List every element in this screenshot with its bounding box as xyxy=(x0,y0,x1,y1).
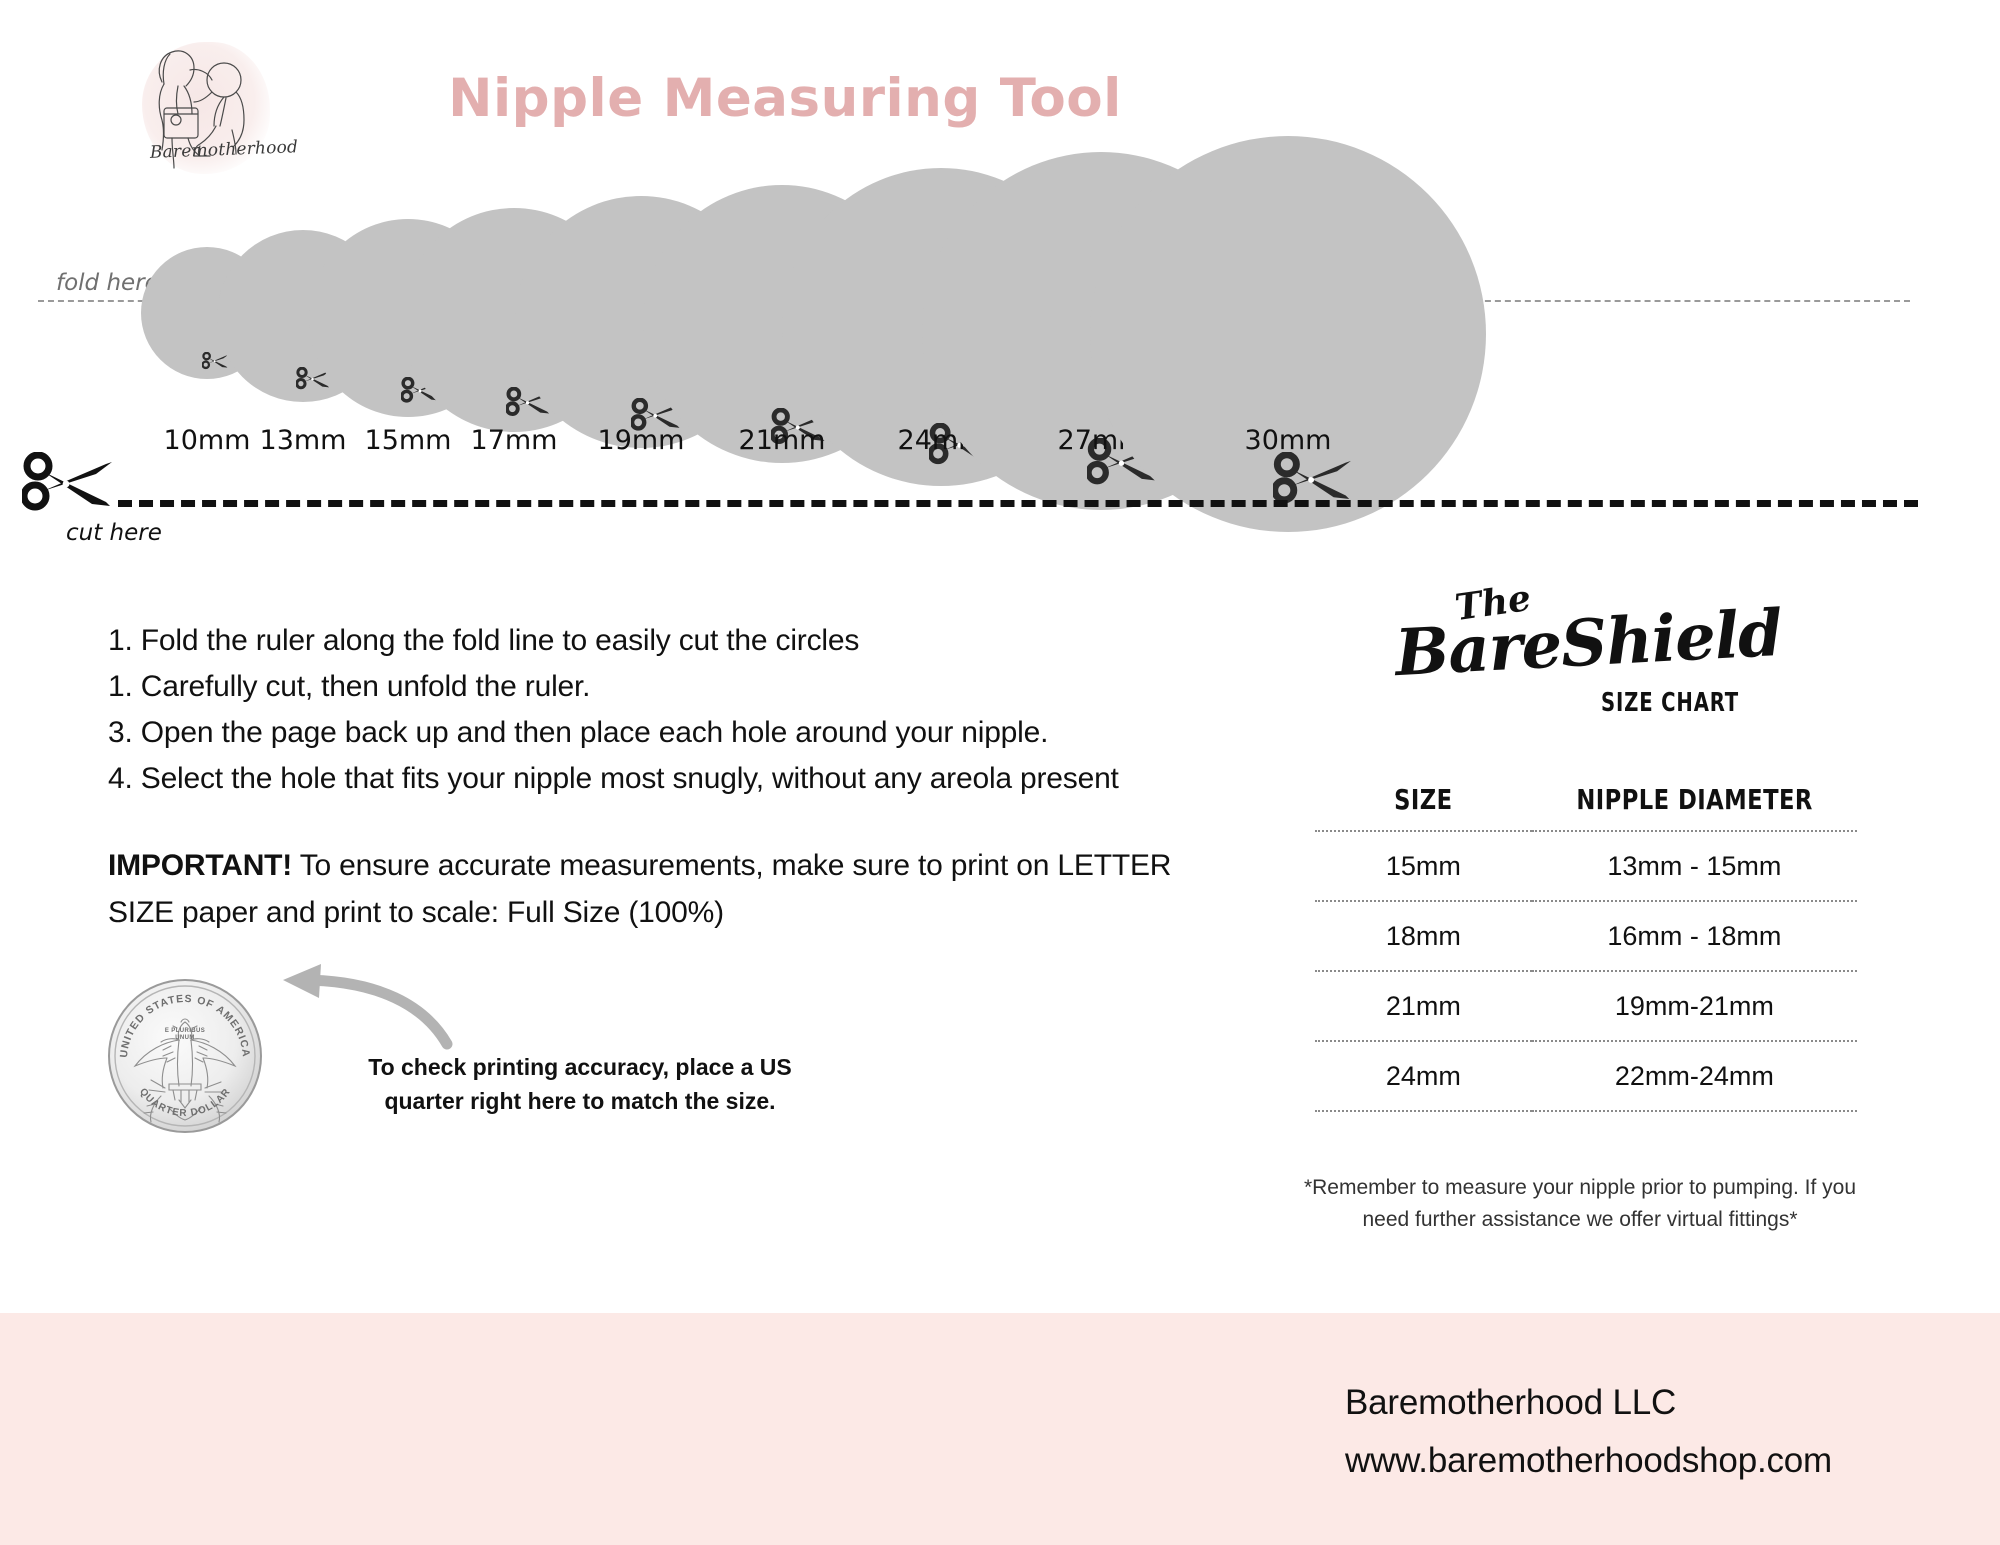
instruction-step: 3. Open the page back up and then place … xyxy=(108,710,1218,756)
coin-motto-text2: UNUM xyxy=(175,1035,195,1041)
cell-size: 15mm xyxy=(1315,831,1532,901)
instruction-step: 1. Carefully cut, then unfold the ruler. xyxy=(108,664,1218,710)
circle-size-label: 17mm xyxy=(471,425,558,456)
circle-size-label: 21mm xyxy=(739,425,826,456)
scissors-icon xyxy=(1273,452,1356,506)
table-header-row: SIZE NIPPLE DIAMETER xyxy=(1315,782,1857,831)
page-footer: Baremotherhood LLC www.baremotherhoodsho… xyxy=(0,1313,2000,1545)
instructions-list: 1. Fold the ruler along the fold line to… xyxy=(108,618,1218,802)
column-header-size: SIZE xyxy=(1326,782,1521,831)
cell-size: 18mm xyxy=(1315,901,1532,971)
circle-size-label: 13mm xyxy=(260,425,347,456)
cell-nipple-diameter: 22mm-24mm xyxy=(1532,1041,1857,1111)
cut-line xyxy=(118,500,1918,507)
important-lead: IMPORTANT! xyxy=(108,849,292,882)
measuring-tool-page: Baremotherhood Nipple Measuring Tool fol… xyxy=(0,0,2000,1545)
cell-size: 24mm xyxy=(1315,1041,1532,1111)
page-title: Nipple Measuring Tool xyxy=(0,68,1570,129)
table-row: 18mm16mm - 18mm xyxy=(1315,901,1857,971)
coin-motto-text: E PLURIBUS xyxy=(165,1028,205,1034)
important-note: IMPORTANT! To ensure accurate measuremen… xyxy=(108,842,1228,936)
column-header-nipple-diameter: NIPPLE DIAMETER xyxy=(1548,782,1841,831)
bareshield-wordmark: BareShield xyxy=(1393,596,1783,691)
quarter-caption: To check printing accuracy, place a US q… xyxy=(345,1050,815,1118)
circle-size-label: 10mm xyxy=(164,425,251,456)
table-row: 15mm13mm - 15mm xyxy=(1315,831,1857,901)
size-chart-table: SIZE NIPPLE DIAMETER 15mm13mm - 15mm18mm… xyxy=(1315,782,1857,1112)
us-quarter-coin: UNITED STATES OF AMERICA E PLURIBUS UNUM… xyxy=(105,976,265,1136)
cell-size: 21mm xyxy=(1315,971,1532,1041)
cell-nipple-diameter: 19mm-21mm xyxy=(1532,971,1857,1041)
circle-size-label: 19mm xyxy=(598,425,685,456)
cell-nipple-diameter: 16mm - 18mm xyxy=(1532,901,1857,971)
circle-size-label: 15mm xyxy=(365,425,452,456)
cell-nipple-diameter: 13mm - 15mm xyxy=(1532,831,1857,901)
bareshield-subtitle: SIZE CHART xyxy=(1601,688,1739,718)
arrow-pointing-to-coin-icon xyxy=(275,960,455,1050)
bareshield-logo: The BareShield SIZE CHART xyxy=(1395,578,1785,718)
footer-website[interactable]: www.baremotherhoodshop.com xyxy=(1345,1441,1832,1481)
instruction-step: 1. Fold the ruler along the fold line to… xyxy=(108,618,1218,664)
cut-here-label: cut here xyxy=(66,520,162,546)
table-row: 24mm22mm-24mm xyxy=(1315,1041,1857,1111)
circle-size-label: 30mm xyxy=(1245,425,1332,456)
instruction-step: 4. Select the hole that fits your nipple… xyxy=(108,756,1218,802)
table-row: 21mm19mm-21mm xyxy=(1315,971,1857,1041)
footer-company: Baremotherhood LLC xyxy=(1345,1383,1676,1423)
size-chart-footnote: *Remember to measure your nipple prior t… xyxy=(1300,1172,1860,1236)
scissors-icon xyxy=(22,452,118,514)
